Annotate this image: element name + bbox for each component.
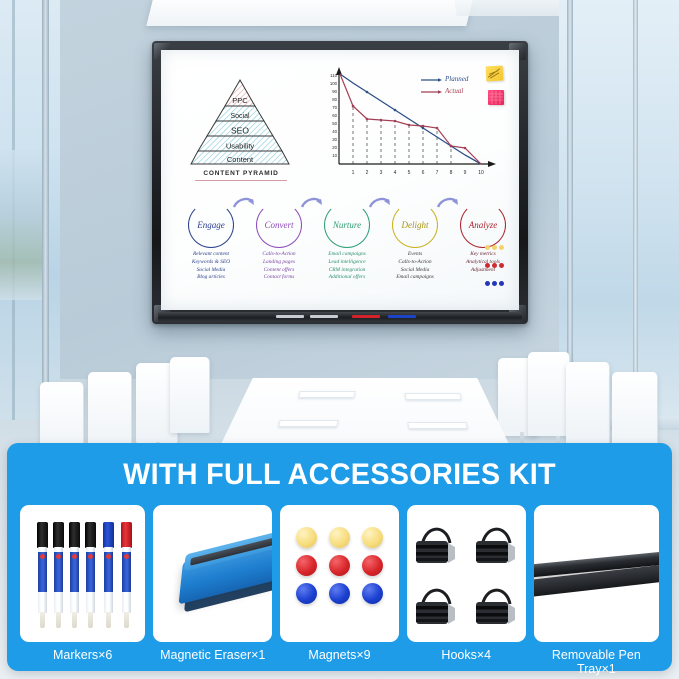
funnel-item: Landing pages xyxy=(247,259,311,267)
funnel-item: Additional offers xyxy=(315,274,379,282)
marker-black xyxy=(53,522,64,628)
product-image: PPC Social SEO Usability Content CONTENT… xyxy=(0,0,679,679)
svg-text:10: 10 xyxy=(332,153,337,158)
svg-text:5: 5 xyxy=(408,170,411,176)
chair xyxy=(170,357,210,433)
pink-sticky-note xyxy=(488,90,504,105)
marker-red xyxy=(121,522,132,628)
funnel-stage-convert: Convert Calls-to-Action Landing pages Co… xyxy=(247,202,311,282)
pyramid-title: CONTENT PYRAMID xyxy=(191,170,291,177)
accessory-card-markers xyxy=(20,505,145,642)
funnel-item: Events xyxy=(383,251,447,259)
yellow-sticky-note xyxy=(486,66,504,82)
funnel-item: Email campaigns xyxy=(383,274,447,282)
banner-title: WITH FULL ACCESSORIES KIT xyxy=(20,443,658,492)
whiteboard: PPC Social SEO Usability Content CONTENT… xyxy=(152,41,528,324)
svg-text:6: 6 xyxy=(422,170,425,176)
accessory-captions: Markers×6 Magnetic Eraser×1 Magnets×9 Ho… xyxy=(20,648,659,676)
funnel-stage-label: Engage xyxy=(197,220,225,230)
caption-hooks: Hooks×4 xyxy=(407,648,526,676)
svg-text:60: 60 xyxy=(332,113,337,118)
magnet-grid xyxy=(280,527,399,604)
chair xyxy=(612,372,658,450)
whiteboard-pen-tray xyxy=(158,312,522,322)
svg-text:30: 30 xyxy=(332,137,337,142)
magnet-blue xyxy=(296,583,317,604)
marker-black xyxy=(37,522,48,628)
marketing-funnel-diagram: Engage Relevant content Keywords & SEO S… xyxy=(177,202,517,310)
tray-marker xyxy=(310,315,338,318)
legend-planned: Planned xyxy=(445,75,468,83)
svg-text:PPC: PPC xyxy=(232,96,248,105)
legend-actual: Actual xyxy=(445,87,463,95)
hook xyxy=(472,517,520,572)
hook-grid xyxy=(407,517,526,633)
funnel-stage-label: Delight xyxy=(402,220,429,230)
funnel-stage-engage: Engage Relevant content Keywords & SEO S… xyxy=(179,202,243,282)
svg-text:1: 1 xyxy=(352,170,355,176)
svg-text:7: 7 xyxy=(436,170,439,176)
magnet-blue xyxy=(362,583,383,604)
tray-marker xyxy=(388,315,416,318)
svg-text:Social: Social xyxy=(230,113,250,120)
pyramid-title-underline xyxy=(195,180,287,181)
svg-text:90: 90 xyxy=(332,89,337,94)
funnel-stage-label: Nurture xyxy=(333,220,361,230)
caption-pen-tray: Removable Pen Tray×1 xyxy=(534,648,659,676)
content-pyramid-diagram: PPC Social SEO Usability Content CONTENT… xyxy=(185,74,295,182)
caption-eraser: Magnetic Eraser×1 xyxy=(153,648,272,676)
board-magnets xyxy=(484,238,510,292)
whiteboard-surface: PPC Social SEO Usability Content CONTENT… xyxy=(161,50,519,310)
svg-text:50: 50 xyxy=(332,121,337,126)
svg-text:10: 10 xyxy=(478,170,484,176)
magnet-yellow xyxy=(362,527,383,548)
svg-text:2: 2 xyxy=(366,170,369,176)
svg-text:110: 110 xyxy=(330,73,337,78)
tray-marker xyxy=(276,315,304,318)
svg-text:4: 4 xyxy=(394,170,397,176)
hook xyxy=(412,517,460,572)
window-left xyxy=(0,0,60,420)
svg-text:70: 70 xyxy=(332,105,337,110)
marker-black xyxy=(85,522,96,628)
svg-text:SEO: SEO xyxy=(231,126,249,136)
burndown-chart: 11010090 807060 504030 2010 123 456 789 … xyxy=(309,64,509,184)
funnel-item: Social Media xyxy=(383,267,447,275)
chair xyxy=(566,362,610,444)
funnel-item: Relevant content xyxy=(179,251,243,259)
magnet-red xyxy=(296,555,317,576)
svg-text:Content: Content xyxy=(227,155,254,164)
accessory-cards xyxy=(20,505,659,642)
funnel-item: Blog articles xyxy=(179,274,243,282)
magnet-yellow xyxy=(329,527,350,548)
marker-black xyxy=(69,522,80,628)
tray-marker xyxy=(352,315,380,318)
accessory-card-hooks xyxy=(407,505,526,642)
funnel-item: Calls-to-Action xyxy=(247,251,311,259)
svg-text:40: 40 xyxy=(332,129,337,134)
svg-text:3: 3 xyxy=(380,170,383,176)
accessory-card-eraser xyxy=(153,505,272,642)
chair xyxy=(528,352,570,436)
hook xyxy=(412,578,460,633)
magnet-yellow xyxy=(296,527,317,548)
caption-markers: Markers×6 xyxy=(20,648,145,676)
funnel-stage-nurture: Nurture Email campaigns Lead intelligenc… xyxy=(315,202,379,282)
svg-text:100: 100 xyxy=(330,81,338,86)
svg-text:9: 9 xyxy=(464,170,467,176)
funnel-item: Calls-to-Action xyxy=(383,259,447,267)
funnel-item: Social Media xyxy=(179,267,243,275)
ceiling-panel xyxy=(146,0,473,26)
hook xyxy=(472,578,520,633)
funnel-item: Contact forms xyxy=(247,274,311,282)
marker-blue xyxy=(103,522,114,628)
accessories-banner: WITH FULL ACCESSORIES KIT xyxy=(7,443,672,671)
funnel-item: Keywords & SEO xyxy=(179,259,243,267)
caption-magnets: Magnets×9 xyxy=(280,648,399,676)
svg-text:8: 8 xyxy=(450,170,453,176)
funnel-stage-label: Analyze xyxy=(469,220,498,230)
chair xyxy=(88,372,132,454)
svg-text:80: 80 xyxy=(332,97,337,102)
svg-text:Usability: Usability xyxy=(226,142,255,151)
magnet-blue xyxy=(329,583,350,604)
funnel-stage-delight: Delight Events Calls-to-Action Social Me… xyxy=(383,202,447,282)
svg-text:20: 20 xyxy=(332,145,337,150)
funnel-item: Email campaigns xyxy=(315,251,379,259)
accessory-card-pen-tray xyxy=(534,505,659,642)
funnel-item: Lead intelligence xyxy=(315,259,379,267)
magnet-red xyxy=(329,555,350,576)
accessory-card-magnets xyxy=(280,505,399,642)
magnet-red xyxy=(362,555,383,576)
funnel-stage-label: Convert xyxy=(265,220,294,230)
